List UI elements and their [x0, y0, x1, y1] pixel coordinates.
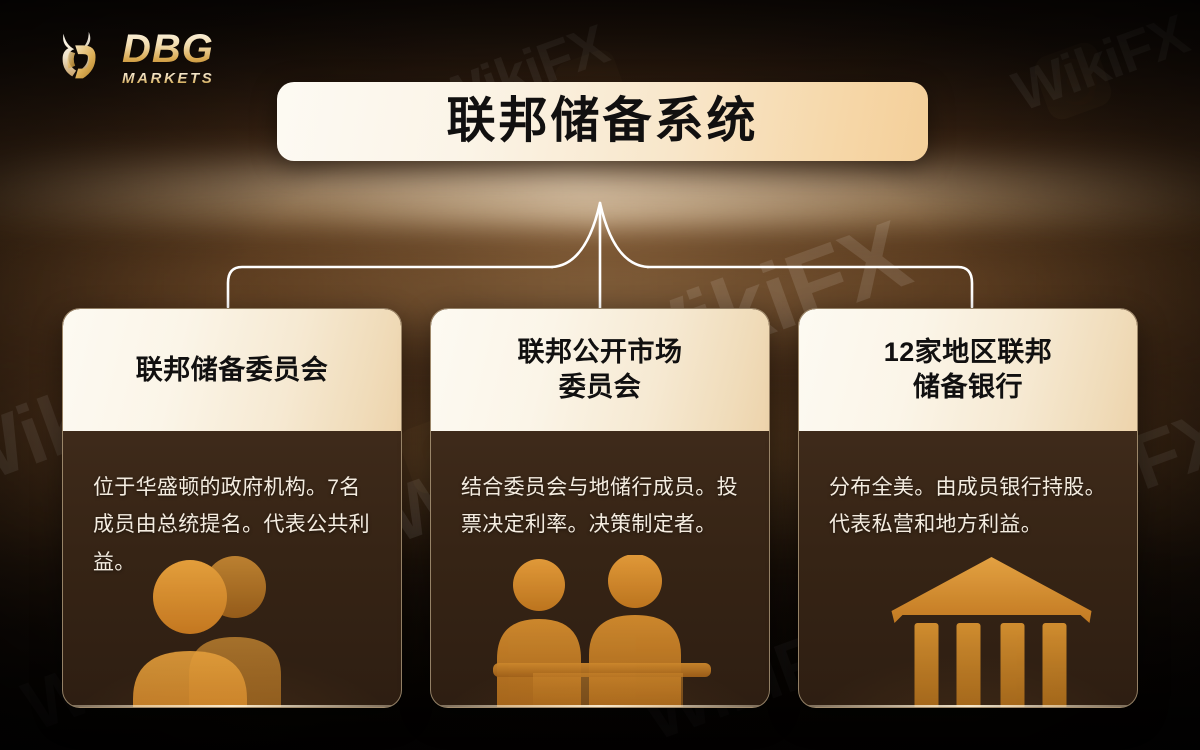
card-board-of-governors[interactable]: 联邦储备委员会	[62, 308, 402, 708]
bank-building-icon	[884, 553, 1099, 708]
card-header: 联邦公开市场委员会	[431, 309, 769, 431]
logo-brand-tagline: MARKETS	[122, 71, 214, 86]
card-header: 联邦储备委员会	[63, 309, 401, 431]
card-header: 12家地区联邦储备银行	[799, 309, 1137, 431]
dbg-markets-logo: DBG MARKETS	[50, 26, 214, 88]
card-bottom-edge	[63, 705, 401, 707]
infographic-canvas: WikiFXWikiFXWikiFXWikiFXWikiFXWikiFXWiki…	[0, 0, 1200, 750]
card-title: 联邦储备委员会	[136, 353, 329, 388]
card-description: 结合委员会与地储行成员。投票决定利率。决策制定者。	[461, 469, 739, 544]
logo-wordmark: DBG MARKETS	[122, 29, 214, 86]
logo-brand-name: DBG	[122, 29, 214, 69]
card-body: 结合委员会与地储行成员。投票决定利率。决策制定者。	[431, 431, 769, 708]
card-bottom-edge	[431, 705, 769, 707]
card-fomc[interactable]: 联邦公开市场委员会	[430, 308, 770, 708]
card-title: 联邦公开市场委员会	[518, 335, 683, 404]
card-body: 分布全美。由成员银行持股。代表私营和地方利益。	[799, 431, 1137, 708]
card-body: 位于华盛顿的政府机构。7名成员由总统提名。代表公共利益。	[63, 431, 401, 708]
card-description: 分布全美。由成员银行持股。代表私营和地方利益。	[829, 469, 1107, 544]
bull-head-icon	[50, 26, 112, 88]
page-title: 联邦储备系统	[446, 97, 758, 146]
card-title: 12家地区联邦储备银行	[884, 335, 1053, 404]
bracket-connector	[0, 155, 1200, 330]
card-regional-reserve-banks[interactable]: 12家地区联邦储备银行	[798, 308, 1138, 708]
card-row: 联邦储备委员会	[62, 308, 1138, 708]
meeting-table-icon	[485, 555, 715, 708]
main-title-banner: 联邦储备系统	[277, 82, 928, 161]
card-bottom-edge	[799, 705, 1137, 707]
card-description: 位于华盛顿的政府机构。7名成员由总统提名。代表公共利益。	[93, 469, 371, 581]
